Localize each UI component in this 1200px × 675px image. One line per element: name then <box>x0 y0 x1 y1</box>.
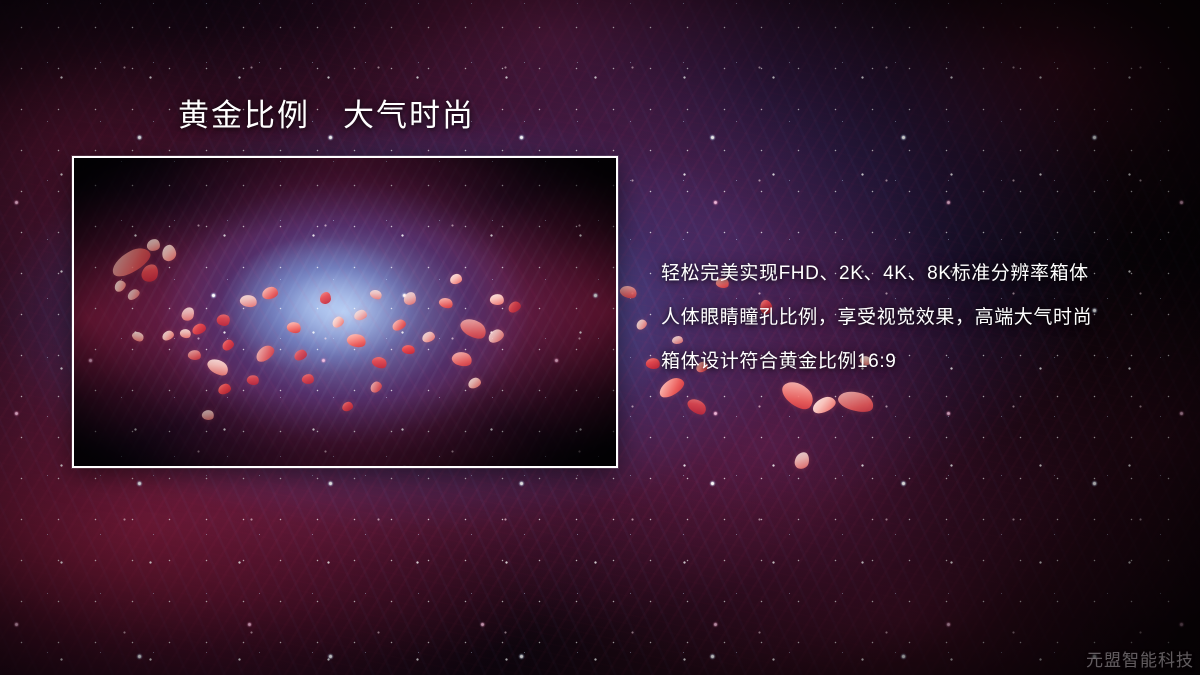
petal <box>810 394 837 415</box>
petal <box>634 318 648 331</box>
petal <box>645 356 661 370</box>
description-line-2: 人体眼睛瞳孔比例，享受视觉效果，高端大气时尚 <box>661 296 1181 340</box>
petal <box>685 395 709 418</box>
slide-canvas: 黄金比例 大气时尚 轻松完美实现FHD、2K、4K、8K标准分辨率箱体 人体眼睛… <box>0 0 1200 675</box>
petal <box>618 283 638 301</box>
display-panel-content <box>74 158 616 466</box>
page-title: 黄金比例 大气时尚 <box>178 99 475 133</box>
petal <box>836 387 876 416</box>
petal <box>794 451 811 470</box>
description-line-3: 箱体设计符合黄金比例16:9 <box>661 340 1181 384</box>
description-line-1: 轻松完美实现FHD、2K、4K、8K标准分辨率箱体 <box>661 252 1181 296</box>
watermark-label: 元盟智能科技 <box>1086 646 1194 671</box>
display-panel-frame <box>72 156 618 468</box>
panel-vignette <box>74 158 616 466</box>
description-text-block: 轻松完美实现FHD、2K、4K、8K标准分辨率箱体 人体眼睛瞳孔比例，享受视觉效… <box>661 252 1181 384</box>
